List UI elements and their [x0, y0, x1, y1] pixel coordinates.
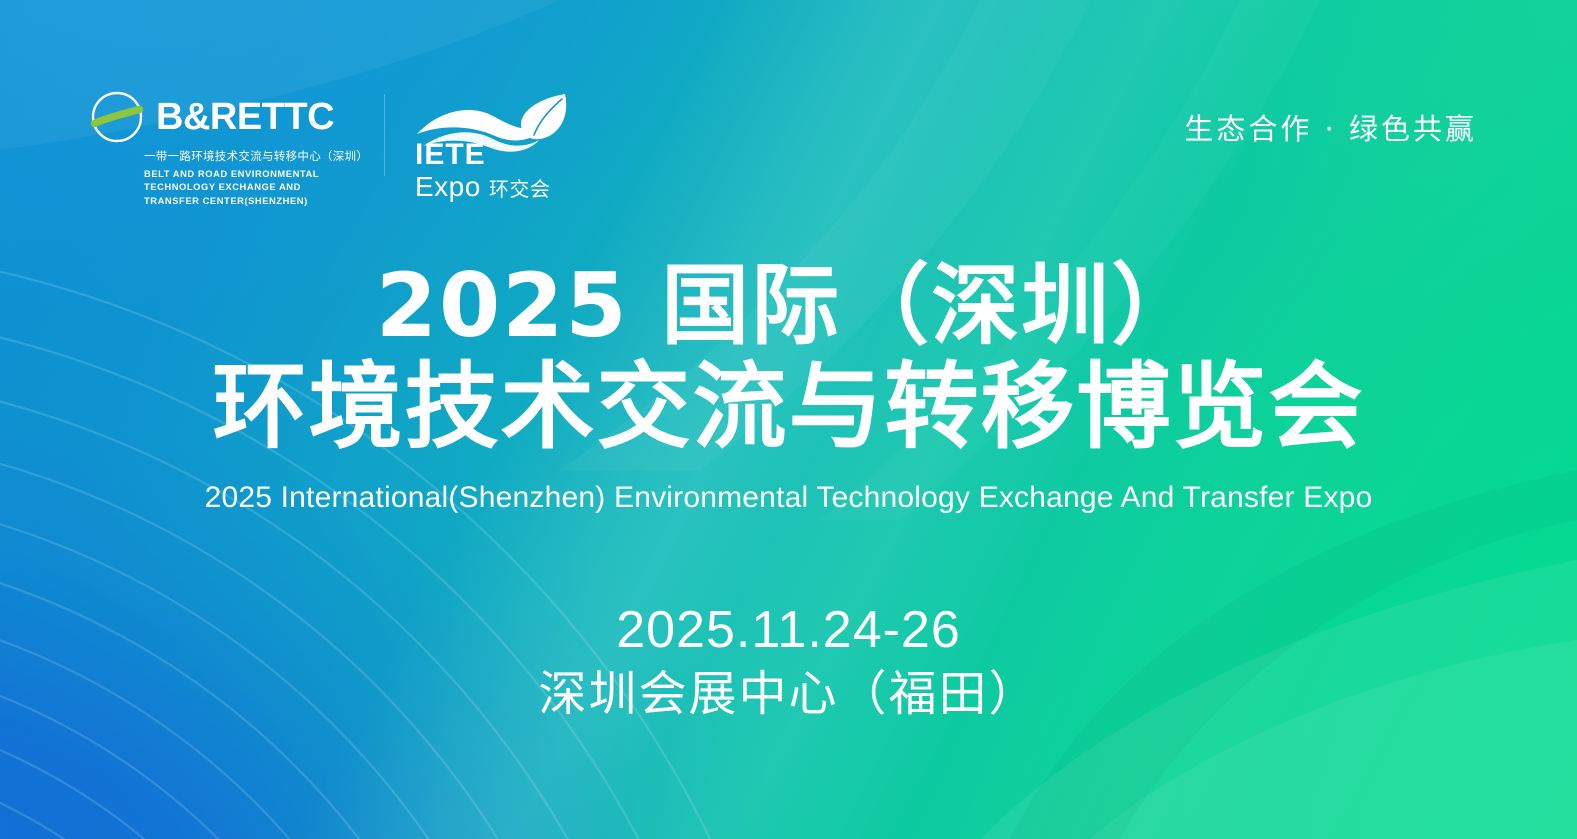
event-venue: 深圳会展中心（福田）	[0, 665, 1577, 724]
iete-wordmark: IETE	[415, 138, 486, 171]
brettc-logo-top: B&RETTC	[88, 88, 356, 146]
brettc-english-name: BELT AND ROAD ENVIRONMENTAL TECHNOLOGY E…	[144, 167, 356, 208]
event-info-block: 2025.11.24-26 深圳会展中心（福田）	[0, 600, 1577, 724]
iete-sub-line: Expo 环交会	[415, 173, 550, 201]
title-block: 2025 国际（深圳） 环境技术交流与转移博览会 2025 Internatio…	[0, 258, 1577, 515]
logo-group: B&RETTC 一带一路环境技术交流与转移中心（深圳） BELT AND ROA…	[88, 88, 583, 207]
event-date: 2025.11.24-26	[0, 600, 1577, 661]
iete-expo-logo[interactable]: IETE Expo 环交会	[413, 88, 583, 198]
title-english-subtitle: 2025 International(Shenzhen) Environment…	[0, 481, 1577, 515]
title-line-1: 2025 国际（深圳）	[0, 258, 1577, 353]
logo-divider	[384, 94, 385, 176]
iete-chinese-short: 环交会	[489, 179, 551, 199]
slogan-text: 生态合作 · 绿色共赢	[1184, 106, 1477, 148]
iete-expo-label: Expo	[415, 173, 481, 201]
brettc-logo[interactable]: B&RETTC 一带一路环境技术交流与转移中心（深圳） BELT AND ROA…	[88, 88, 356, 207]
event-poster: B&RETTC 一带一路环境技术交流与转移中心（深圳） BELT AND ROA…	[0, 0, 1577, 839]
brettc-chinese-name: 一带一路环境技术交流与转移中心（深圳）	[144, 149, 356, 165]
brettc-wordmark: B&RETTC	[156, 98, 334, 136]
title-line-2: 环境技术交流与转移博览会	[0, 357, 1577, 459]
poster-header: B&RETTC 一带一路环境技术交流与转移中心（深圳） BELT AND ROA…	[0, 0, 1577, 210]
iete-text-block: IETE Expo 环交会	[415, 140, 550, 201]
globe-icon	[88, 88, 146, 146]
